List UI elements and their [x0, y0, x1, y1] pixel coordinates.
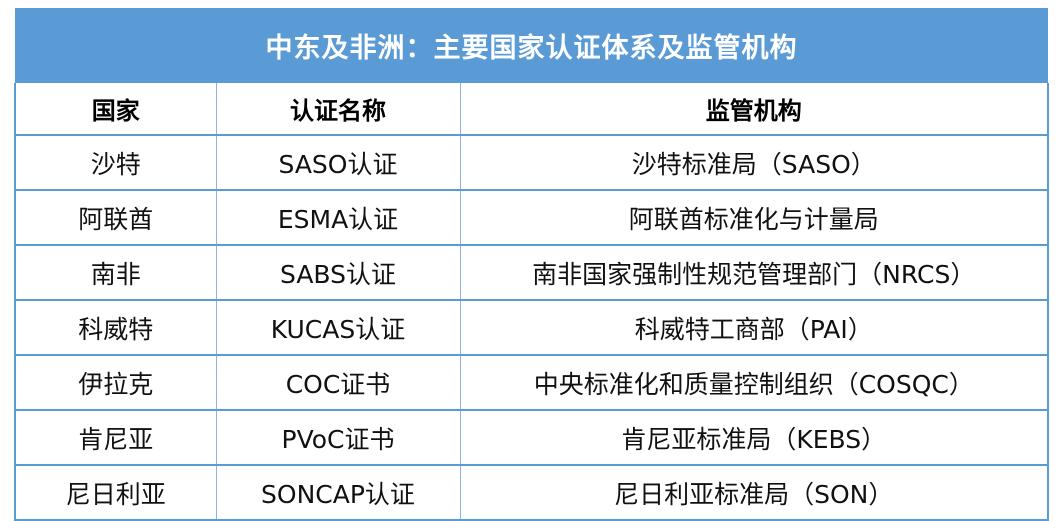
cell-certification: COC证书 — [216, 355, 460, 410]
cell-regulator: 阿联酋标准化与计量局 — [460, 190, 1048, 245]
cell-country: 伊拉克 — [15, 355, 216, 410]
table-row: 科威特KUCAS认证科威特工商部（PAI） — [15, 300, 1048, 355]
cell-country: 南非 — [15, 245, 216, 300]
table-title-row: 中东及非洲：主要国家认证体系及监管机构 — [15, 8, 1048, 83]
cell-regulator: 科威特工商部（PAI） — [460, 300, 1048, 355]
column-header-regulator: 监管机构 — [460, 83, 1048, 135]
cell-regulator: 肯尼亚标准局（KEBS） — [460, 410, 1048, 465]
column-header-country: 国家 — [15, 83, 216, 135]
cell-certification: PVoC证书 — [216, 410, 460, 465]
certification-table: 中东及非洲：主要国家认证体系及监管机构 国家 认证名称 监管机构 沙特SASO认… — [14, 8, 1049, 521]
table-row: 南非SABS认证南非国家强制性规范管理部门（NRCS） — [15, 245, 1048, 300]
cell-country: 尼日利亚 — [15, 465, 216, 520]
cell-certification: ESMA认证 — [216, 190, 460, 245]
cell-country: 科威特 — [15, 300, 216, 355]
cell-country: 阿联酋 — [15, 190, 216, 245]
certification-table-container: 中东及非洲：主要国家认证体系及监管机构 国家 认证名称 监管机构 沙特SASO认… — [14, 8, 1047, 521]
column-header-certification: 认证名称 — [216, 83, 460, 135]
table-row: 肯尼亚PVoC证书肯尼亚标准局（KEBS） — [15, 410, 1048, 465]
table-row: 阿联酋ESMA认证阿联酋标准化与计量局 — [15, 190, 1048, 245]
cell-regulator: 沙特标准局（SASO） — [460, 135, 1048, 190]
table-header-row: 国家 认证名称 监管机构 — [15, 83, 1048, 135]
cell-certification: SASO认证 — [216, 135, 460, 190]
cell-regulator: 尼日利亚标准局（SON） — [460, 465, 1048, 520]
cell-regulator: 南非国家强制性规范管理部门（NRCS） — [460, 245, 1048, 300]
cell-country: 肯尼亚 — [15, 410, 216, 465]
page-title: 中东及非洲：主要国家认证体系及监管机构 — [15, 8, 1048, 83]
cell-regulator: 中央标准化和质量控制组织（COSQC） — [460, 355, 1048, 410]
cell-country: 沙特 — [15, 135, 216, 190]
cell-certification: SONCAP认证 — [216, 465, 460, 520]
cell-certification: KUCAS认证 — [216, 300, 460, 355]
table-row: 伊拉克COC证书中央标准化和质量控制组织（COSQC） — [15, 355, 1048, 410]
table-row: 沙特SASO认证沙特标准局（SASO） — [15, 135, 1048, 190]
table-row: 尼日利亚SONCAP认证尼日利亚标准局（SON） — [15, 465, 1048, 520]
cell-certification: SABS认证 — [216, 245, 460, 300]
